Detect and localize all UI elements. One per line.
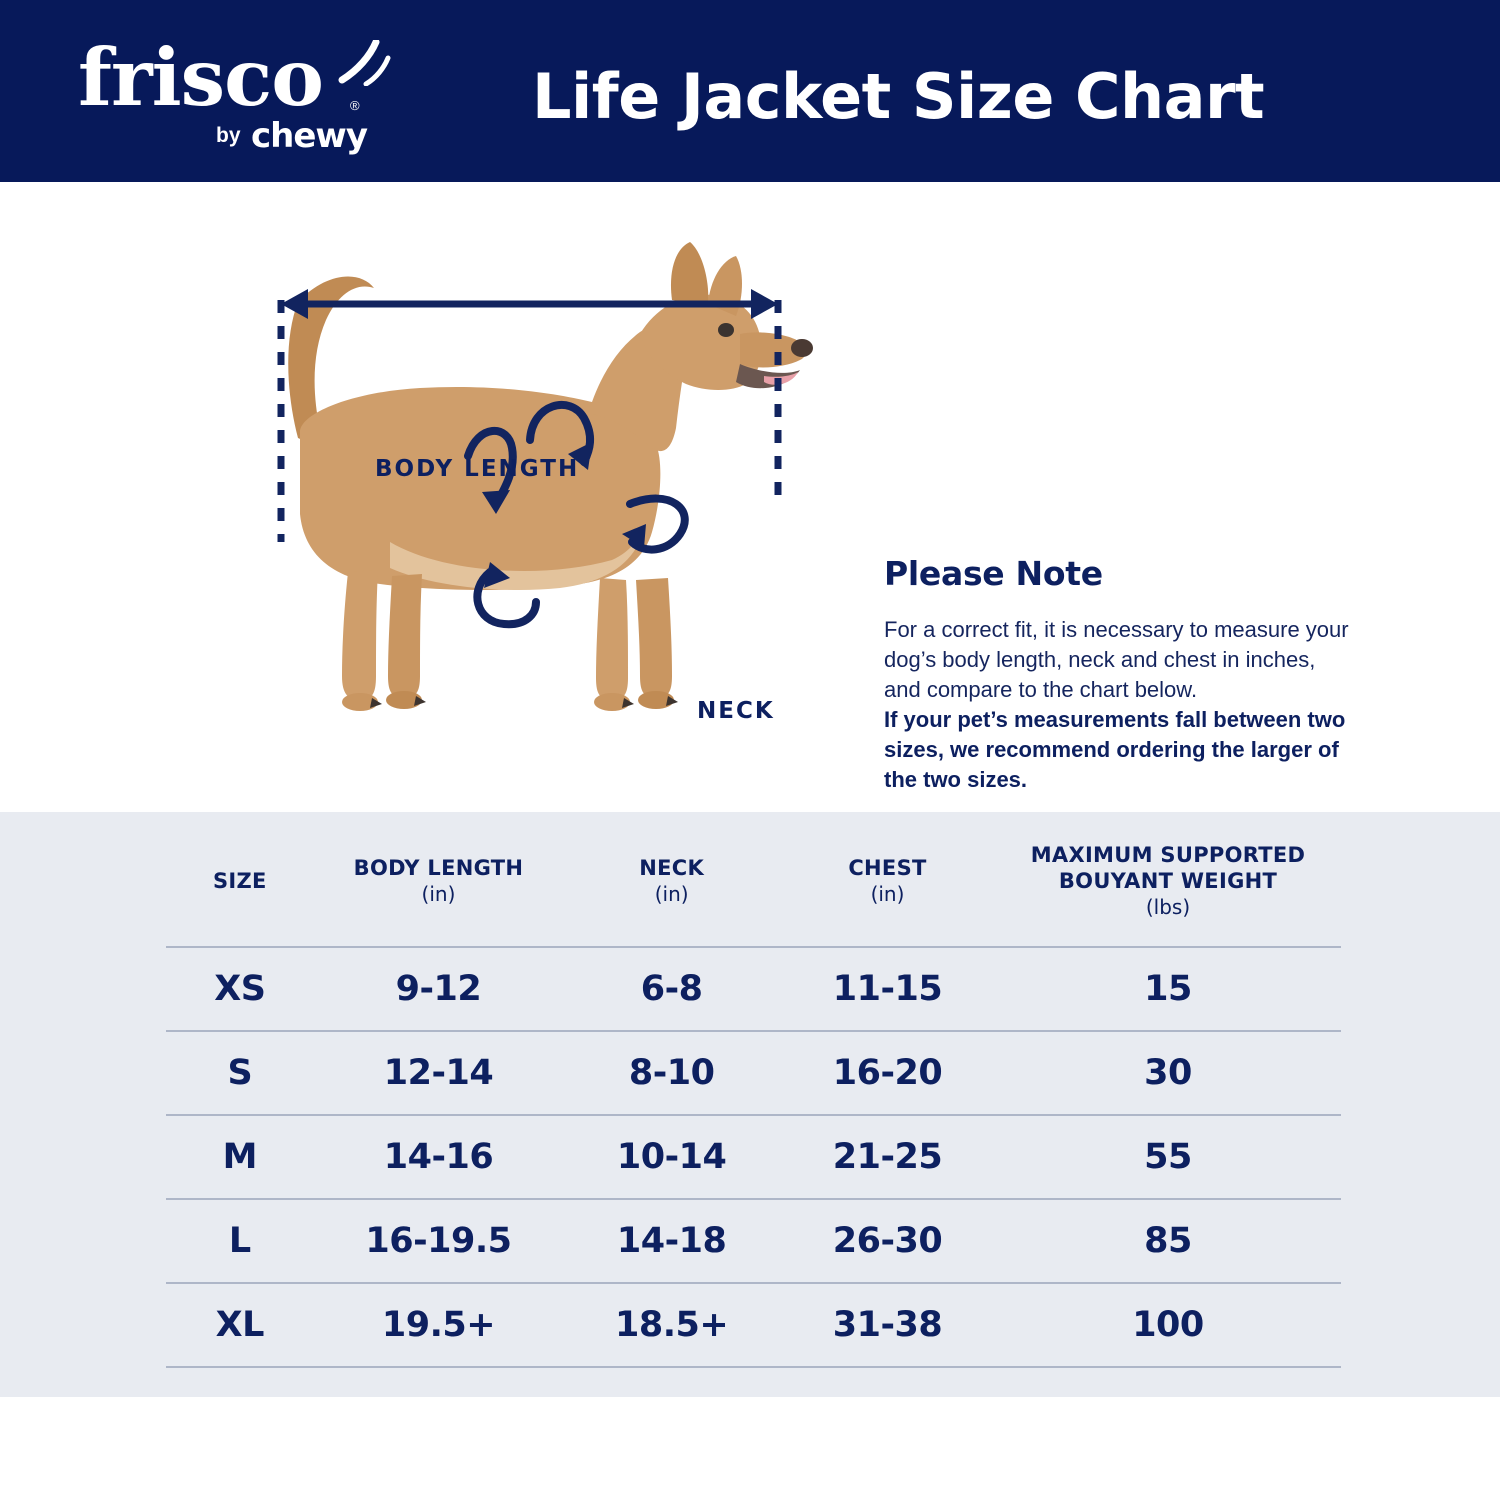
cell-body-length: 9-12 (314, 947, 564, 1031)
table-row: XL 19.5+ 18.5+ 31-38 100 (166, 1283, 1341, 1367)
table-body: XS 9-12 6-8 11-15 15 S 12-14 8-10 16-20 … (166, 947, 1341, 1367)
column-header-neck-label: NECK (639, 856, 704, 880)
page-title: Life Jacket Size Chart (532, 60, 1264, 133)
column-header-neck: NECK (in) (563, 812, 780, 947)
cell-chest: 21-25 (780, 1115, 995, 1199)
cell-chest: 26-30 (780, 1199, 995, 1283)
registered-mark-icon: ® (350, 98, 360, 113)
note-title: Please Note (884, 554, 1354, 593)
cell-chest: 16-20 (780, 1031, 995, 1115)
cell-size: XS (166, 947, 314, 1031)
cell-body-length: 16-19.5 (314, 1199, 564, 1283)
brand-logo-text: frisco (78, 38, 323, 117)
column-header-weight-label: MAXIMUM SUPPORTED BOUYANT WEIGHT (1031, 843, 1306, 893)
cell-neck: 6-8 (563, 947, 780, 1031)
column-header-weight-unit: (lbs) (1146, 895, 1190, 919)
cell-neck: 18.5+ (563, 1283, 780, 1367)
cell-size: S (166, 1031, 314, 1115)
chewy-logo-text: chewy (251, 116, 367, 156)
column-header-body-length-label: BODY LENGTH (354, 856, 524, 880)
cell-neck: 14-18 (563, 1199, 780, 1283)
cell-weight: 100 (995, 1283, 1341, 1367)
table-row: L 16-19.5 14-18 26-30 85 (166, 1199, 1341, 1283)
column-header-body-length: BODY LENGTH (in) (314, 812, 564, 947)
cell-size: L (166, 1199, 314, 1283)
frisco-by-chewy-logo: frisco ® by chewy (78, 38, 378, 166)
page-header: frisco ® by chewy Life Jacket Size Chart (0, 0, 1500, 182)
please-note-block: Please Note For a correct fit, it is nec… (884, 554, 1354, 795)
measurement-illustration-section: BODY LENGTH NECK CHEST Please Note For a… (0, 182, 1500, 812)
table-header-row: SIZE BODY LENGTH (in) NECK (in) CHEST (i… (166, 812, 1341, 947)
column-header-chest-unit: (in) (871, 882, 905, 906)
neck-label: NECK (697, 698, 775, 724)
note-emphasis: If your pet’s measurements fall between … (884, 705, 1354, 795)
cell-neck: 10-14 (563, 1115, 780, 1199)
cell-weight: 55 (995, 1115, 1341, 1199)
table-row: XS 9-12 6-8 11-15 15 (166, 947, 1341, 1031)
cell-chest: 31-38 (780, 1283, 995, 1367)
size-chart-page: frisco ® by chewy Life Jacket Size Chart (0, 0, 1500, 1500)
cell-neck: 8-10 (563, 1031, 780, 1115)
cell-size: M (166, 1115, 314, 1199)
column-header-chest: CHEST (in) (780, 812, 995, 947)
column-header-size: SIZE (166, 812, 314, 947)
cell-body-length: 19.5+ (314, 1283, 564, 1367)
column-header-body-length-unit: (in) (422, 882, 456, 906)
cell-size: XL (166, 1283, 314, 1367)
column-header-size-label: SIZE (213, 869, 267, 893)
note-paragraph: For a correct fit, it is necessary to me… (884, 615, 1354, 705)
logo-swoosh-icon (336, 40, 396, 86)
logo-by-text: by (216, 124, 241, 148)
body-length-label: BODY LENGTH (375, 456, 579, 482)
table-row: S 12-14 8-10 16-20 30 (166, 1031, 1341, 1115)
table-head: SIZE BODY LENGTH (in) NECK (in) CHEST (i… (166, 812, 1341, 947)
size-table-panel: SIZE BODY LENGTH (in) NECK (in) CHEST (i… (0, 812, 1500, 1397)
dog-measurement-diagram (240, 242, 840, 762)
cell-weight: 30 (995, 1031, 1341, 1115)
column-header-weight: MAXIMUM SUPPORTED BOUYANT WEIGHT (lbs) (995, 812, 1341, 947)
column-header-neck-unit: (in) (655, 882, 689, 906)
cell-chest: 11-15 (780, 947, 995, 1031)
cell-body-length: 14-16 (314, 1115, 564, 1199)
cell-weight: 85 (995, 1199, 1341, 1283)
cell-weight: 15 (995, 947, 1341, 1031)
column-header-chest-label: CHEST (848, 856, 926, 880)
table-row: M 14-16 10-14 21-25 55 (166, 1115, 1341, 1199)
cell-body-length: 12-14 (314, 1031, 564, 1115)
size-chart-table: SIZE BODY LENGTH (in) NECK (in) CHEST (i… (166, 812, 1341, 1368)
